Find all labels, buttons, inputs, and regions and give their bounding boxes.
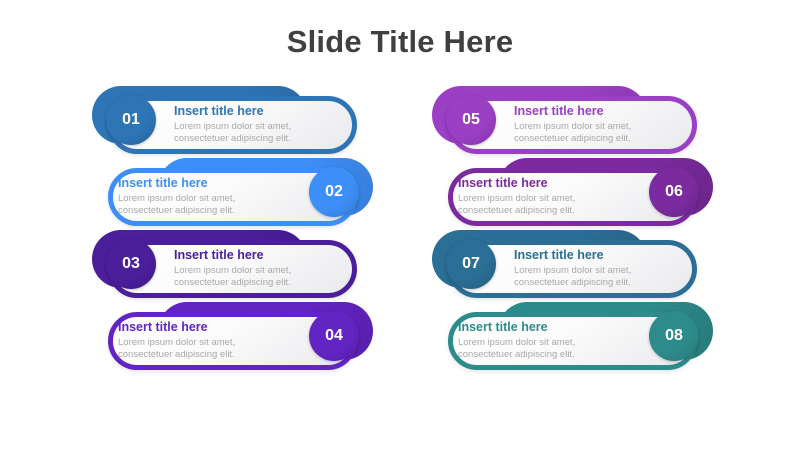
item-description-line-2: consectetuer adipiscing elit. [514,133,679,145]
item-description-line-2: consectetuer adipiscing elit. [174,277,339,289]
item-title: Insert title here [514,104,679,119]
item-number-badge: 06 [649,167,699,217]
list-item[interactable]: 02Insert title hereLorem ipsum dolor sit… [100,168,365,230]
item-description-line-1: Lorem ipsum dolor sit amet, [118,337,288,349]
item-description-line-1: Lorem ipsum dolor sit amet, [174,121,339,133]
item-description-line-1: Lorem ipsum dolor sit amet, [118,193,288,205]
item-description: Lorem ipsum dolor sit amet,consectetuer … [118,193,288,216]
item-description-line-1: Lorem ipsum dolor sit amet, [514,121,679,133]
item-description: Lorem ipsum dolor sit amet,consectetuer … [118,337,288,360]
item-text-block: Insert title hereLorem ipsum dolor sit a… [458,176,628,216]
item-description-line-2: consectetuer adipiscing elit. [514,277,679,289]
item-description-line-2: consectetuer adipiscing elit. [458,205,628,217]
item-description-line-1: Lorem ipsum dolor sit amet, [458,193,628,205]
item-number-badge: 01 [106,95,156,145]
item-number-badge: 07 [446,239,496,289]
list-item[interactable]: 08Insert title hereLorem ipsum dolor sit… [440,312,705,374]
item-text-block: Insert title hereLorem ipsum dolor sit a… [174,104,339,144]
column-left: 01Insert title hereLorem ipsum dolor sit… [100,96,380,384]
item-description-line-1: Lorem ipsum dolor sit amet, [174,265,339,277]
list-item[interactable]: 03Insert title hereLorem ipsum dolor sit… [100,240,365,302]
item-text-block: Insert title hereLorem ipsum dolor sit a… [118,320,288,360]
item-description: Lorem ipsum dolor sit amet,consectetuer … [174,121,339,144]
item-title: Insert title here [118,320,288,335]
list-item[interactable]: 07Insert title hereLorem ipsum dolor sit… [440,240,705,302]
item-text-block: Insert title hereLorem ipsum dolor sit a… [458,320,628,360]
item-title: Insert title here [174,248,339,263]
item-text-block: Insert title hereLorem ipsum dolor sit a… [118,176,288,216]
item-description-line-2: consectetuer adipiscing elit. [118,205,288,217]
item-description-line-1: Lorem ipsum dolor sit amet, [458,337,628,349]
item-description: Lorem ipsum dolor sit amet,consectetuer … [458,193,628,216]
item-description: Lorem ipsum dolor sit amet,consectetuer … [174,265,339,288]
item-text-block: Insert title hereLorem ipsum dolor sit a… [514,248,679,288]
item-description: Lorem ipsum dolor sit amet,consectetuer … [458,337,628,360]
item-number-badge: 04 [309,311,359,361]
column-right: 05Insert title hereLorem ipsum dolor sit… [440,96,720,384]
item-text-block: Insert title hereLorem ipsum dolor sit a… [514,104,679,144]
list-item[interactable]: 04Insert title hereLorem ipsum dolor sit… [100,312,365,374]
page-title: Slide Title Here [0,24,800,60]
item-title: Insert title here [458,176,628,191]
item-description-line-2: consectetuer adipiscing elit. [118,349,288,361]
item-description-line-2: consectetuer adipiscing elit. [174,133,339,145]
item-number-badge: 08 [649,311,699,361]
item-description-line-1: Lorem ipsum dolor sit amet, [514,265,679,277]
item-title: Insert title here [514,248,679,263]
item-title: Insert title here [118,176,288,191]
item-number-badge: 02 [309,167,359,217]
item-text-block: Insert title hereLorem ipsum dolor sit a… [174,248,339,288]
item-title: Insert title here [458,320,628,335]
item-title: Insert title here [174,104,339,119]
item-number-badge: 03 [106,239,156,289]
list-item[interactable]: 06Insert title hereLorem ipsum dolor sit… [440,168,705,230]
slide-canvas: Slide Title Here 01Insert title hereLore… [0,0,800,450]
item-description-line-2: consectetuer adipiscing elit. [458,349,628,361]
list-item[interactable]: 05Insert title hereLorem ipsum dolor sit… [440,96,705,158]
item-description: Lorem ipsum dolor sit amet,consectetuer … [514,265,679,288]
item-number-badge: 05 [446,95,496,145]
item-description: Lorem ipsum dolor sit amet,consectetuer … [514,121,679,144]
list-item[interactable]: 01Insert title hereLorem ipsum dolor sit… [100,96,365,158]
